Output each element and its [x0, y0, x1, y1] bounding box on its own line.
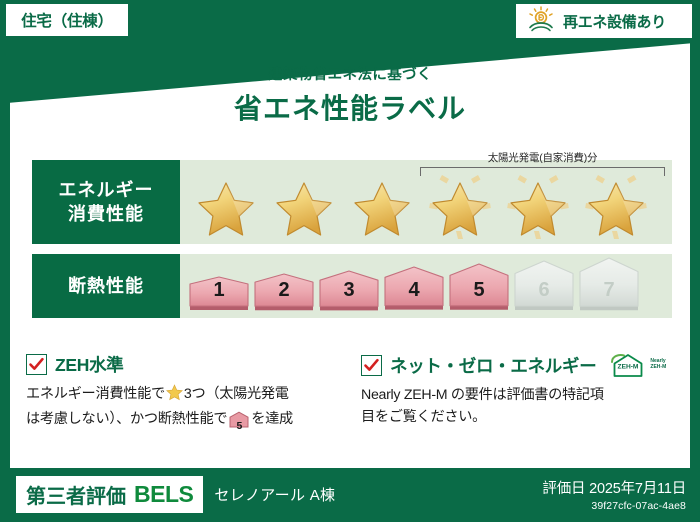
bels-en-label: BELS: [134, 481, 193, 508]
zeh-m-sub-line2: ZEH-M: [650, 364, 666, 370]
category-tab: 住宅（住棟）: [6, 4, 128, 36]
insulation-level-1: 1: [188, 275, 250, 311]
criteria-section: ZEH水準 エネルギー消費性能で3つ（太陽光発電は考慮しない）、かつ断熱性能で5…: [26, 352, 680, 435]
zeh-body-part3: を達成: [251, 411, 293, 427]
insulation-level-number: 5: [448, 279, 510, 302]
insulation-level-number: 1: [188, 279, 250, 302]
insulation-level-7: 7: [578, 256, 640, 311]
netzero-check-icon: [361, 355, 382, 376]
zeh-body-part1: エネルギー消費性能で: [26, 386, 165, 402]
insulation-level-6: 6: [513, 259, 575, 311]
inline-house-number: 5: [229, 418, 249, 434]
building-name: セレノアール A棟: [214, 484, 335, 505]
insulation-performance-row: 断熱性能 1234567: [32, 254, 682, 318]
netzero-criterion-title: ネット・ゼロ・エネルギー: [390, 353, 596, 378]
insulation-level-5: 5: [448, 262, 510, 311]
star-base: [188, 163, 264, 241]
bels-jp-label: 第三者評価: [26, 480, 126, 509]
insulation-level-3: 3: [318, 269, 380, 311]
category-tab-label: 住宅（住棟）: [21, 9, 113, 31]
energy-label-root: 住宅（住棟） 再エネ設備あり 建築物省エネ法に基づく: [0, 0, 700, 522]
sun-renewable-icon: [526, 6, 556, 37]
netzero-criterion-head: ネット・ゼロ・エネルギー ZEH-M Nearly ZEH-M: [361, 352, 680, 378]
netzero-body-line2: 目をご覧ください。: [361, 409, 486, 425]
solar-bracket-annotation: 太陽光発電(自家消費)分: [420, 150, 665, 176]
inline-star-icon: [166, 384, 183, 408]
insulation-row-body: 1234567: [180, 254, 682, 318]
label-title: 省エネ性能ラベル: [0, 87, 700, 127]
insulation-level-number: 2: [253, 279, 315, 302]
zeh-body-part2: は考慮しない）、かつ断熱性能で: [26, 411, 227, 427]
renewable-badge-label: 再エネ設備あり: [563, 11, 666, 32]
zeh-m-logo-sub: Nearly ZEH-M: [650, 359, 666, 371]
bels-certification-box: 第三者評価 BELS: [16, 476, 203, 513]
renewable-energy-badge: 再エネ設備あり: [516, 4, 692, 38]
insulation-level-2: 2: [253, 272, 315, 311]
insulation-level-number: 6: [513, 279, 575, 302]
evaluation-id: 39f27cfc-07ac-4ae8: [542, 500, 686, 512]
evaluation-date: 評価日 2025年7月11日: [542, 477, 686, 498]
svg-text:ZEH-M: ZEH-M: [618, 364, 639, 371]
insulation-level-4: 4: [383, 265, 445, 311]
energy-row-label-line2: 消費性能: [68, 202, 144, 226]
insulation-row-label-text: 断熱性能: [68, 274, 144, 298]
inline-house-badge: 5: [229, 411, 249, 435]
netzero-body-line1: Nearly ZEH-M の要件は評価書の特記項: [361, 387, 604, 403]
insulation-level-number: 4: [383, 279, 445, 302]
zeh-criterion-head: ZEH水準: [26, 352, 345, 377]
footer-bar: 第三者評価 BELS セレノアール A棟 評価日 2025年7月11日 39f2…: [0, 466, 700, 522]
insulation-level-scale: 1234567: [180, 254, 682, 318]
star-base: [266, 163, 342, 241]
netzero-criterion: ネット・ゼロ・エネルギー ZEH-M Nearly ZEH-M Nearly Z…: [361, 352, 680, 435]
insulation-level-number: 3: [318, 279, 380, 302]
star-base: [344, 163, 420, 241]
zeh-criterion-title: ZEH水準: [55, 352, 124, 377]
zeh-criterion: ZEH水準 エネルギー消費性能で3つ（太陽光発電は考慮しない）、かつ断熱性能で5…: [26, 352, 345, 435]
zeh-m-logo: ZEH-M Nearly ZEH-M: [608, 352, 666, 378]
energy-row-label: エネルギー 消費性能: [32, 160, 180, 244]
zeh-criterion-body: エネルギー消費性能で3つ（太陽光発電は考慮しない）、かつ断熱性能で5を達成: [26, 383, 345, 435]
netzero-criterion-body: Nearly ZEH-M の要件は評価書の特記項 目をご覧ください。: [361, 384, 680, 428]
footer-meta: 評価日 2025年7月11日 39f27cfc-07ac-4ae8: [542, 477, 686, 512]
solar-bracket-label: 太陽光発電(自家消費)分: [420, 150, 665, 165]
insulation-level-number: 7: [578, 279, 640, 302]
header-block: 建築物省エネ法に基づく 省エネ性能ラベル: [0, 63, 700, 127]
label-subtitle: 建築物省エネ法に基づく: [0, 63, 700, 84]
energy-row-label-line1: エネルギー: [59, 178, 154, 202]
zeh-body-star-count: 3つ（太陽光発電: [184, 386, 289, 402]
zeh-check-icon: [26, 354, 47, 375]
solar-bracket-line: [420, 167, 665, 176]
insulation-row-label: 断熱性能: [32, 254, 180, 318]
